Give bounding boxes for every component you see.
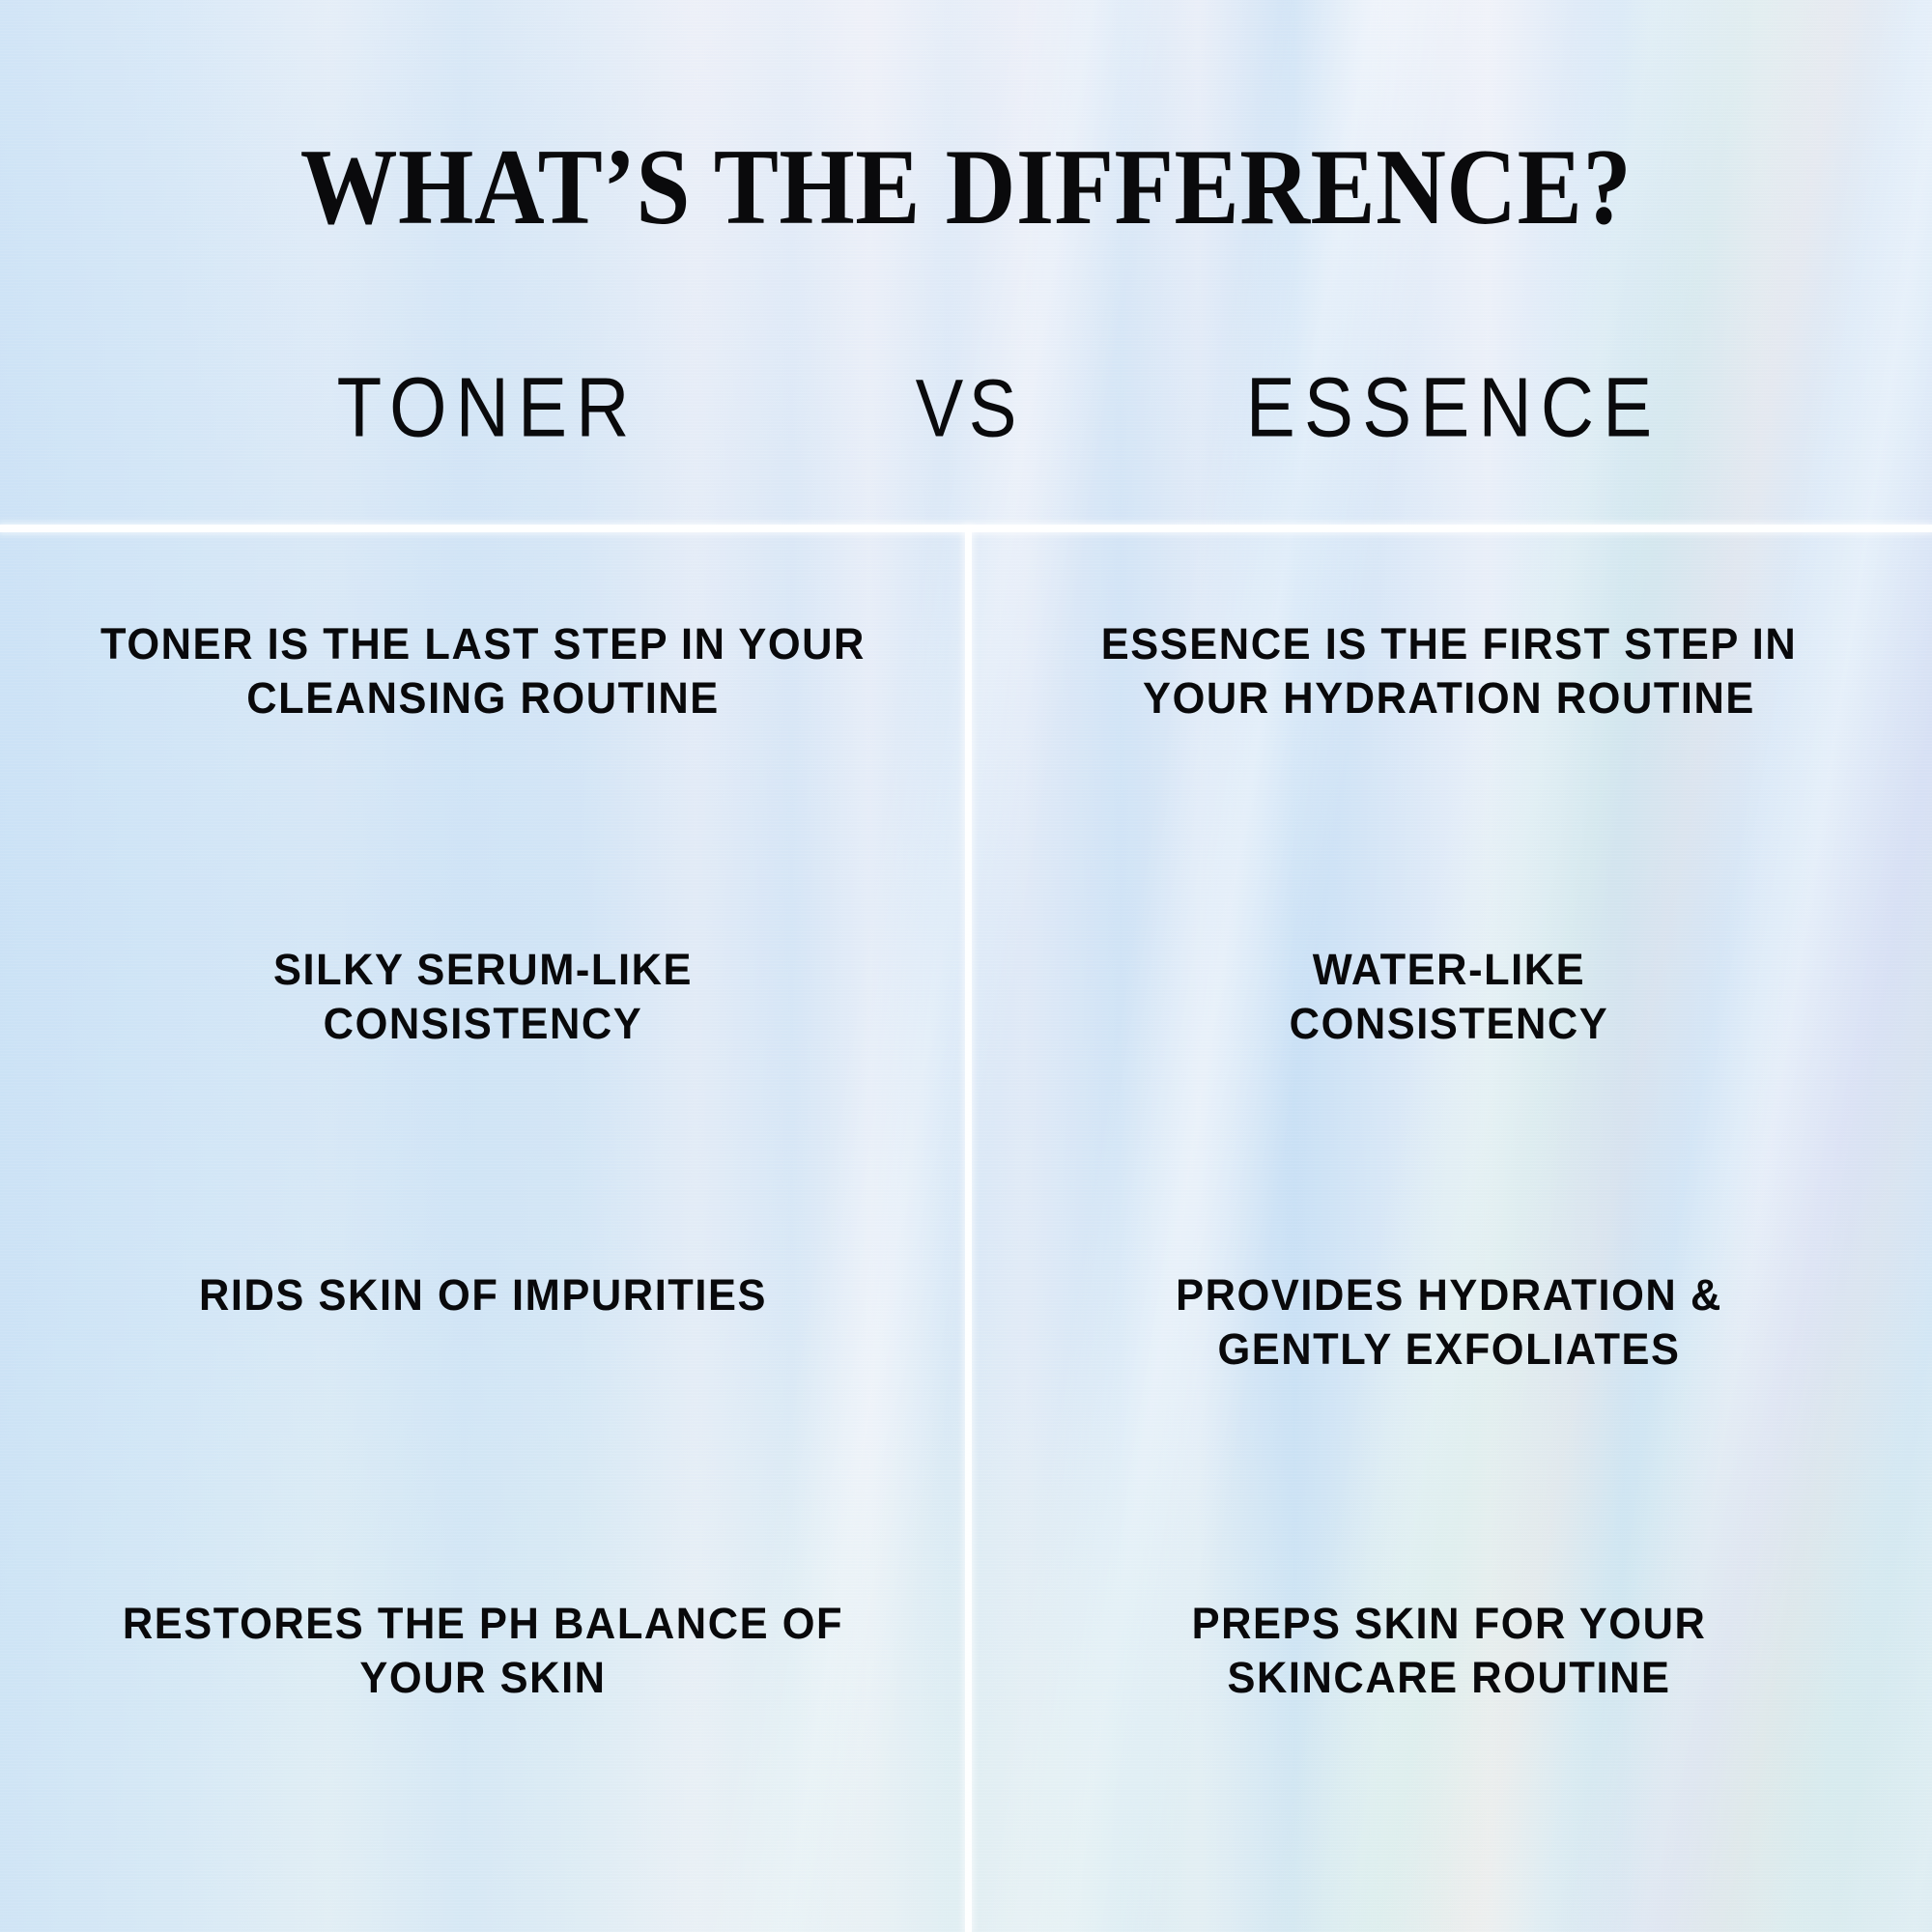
page-title: WHAT’S THE DIFFERENCE?: [97, 133, 1835, 241]
feature-line: PROVIDES HYDRATION &: [1014, 1268, 1883, 1322]
column-toner: TONER IS THE LAST STEP IN YOUR CLEANSING…: [0, 532, 966, 1932]
feature-toner-step: TONER IS THE LAST STEP IN YOUR CLEANSING…: [17, 617, 950, 725]
feature-line: SILKY SERUM-LIKE: [48, 943, 917, 997]
feature-line: PREPS SKIN FOR YOUR: [1014, 1597, 1883, 1651]
feature-line: CONSISTENCY: [1014, 997, 1883, 1051]
header-section: WHAT’S THE DIFFERENCE? TONER VS ESSENCE: [0, 0, 1932, 525]
feature-essence-step: ESSENCE IS THE FIRST STEP IN YOUR HYDRAT…: [983, 617, 1916, 725]
column-heading-essence: ESSENCE: [1000, 367, 1898, 451]
feature-line: WATER-LIKE: [1014, 943, 1883, 997]
feature-line: CLEANSING ROUTINE: [48, 671, 917, 725]
feature-line: ESSENCE IS THE FIRST STEP IN: [1014, 617, 1883, 671]
feature-line: CONSISTENCY: [48, 997, 917, 1051]
feature-line: YOUR SKIN: [48, 1651, 917, 1705]
feature-toner-consistency: SILKY SERUM-LIKE CONSISTENCY: [17, 943, 950, 1051]
feature-line: GENTLY EXFOLIATES: [1014, 1322, 1883, 1377]
feature-line: RIDS SKIN OF IMPURITIES: [48, 1268, 917, 1322]
column-essence: ESSENCE IS THE FIRST STEP IN YOUR HYDRAT…: [966, 532, 1932, 1932]
feature-essence-preps: PREPS SKIN FOR YOUR SKINCARE ROUTINE: [983, 1597, 1916, 1705]
comparison-columns: TONER IS THE LAST STEP IN YOUR CLEANSING…: [0, 532, 1932, 1932]
feature-line: TONER IS THE LAST STEP IN YOUR: [48, 617, 917, 671]
feature-line: RESTORES THE PH BALANCE OF: [48, 1597, 917, 1651]
feature-essence-consistency: WATER-LIKE CONSISTENCY: [983, 943, 1916, 1051]
feature-toner-impurities: RIDS SKIN OF IMPURITIES: [17, 1268, 950, 1322]
feature-line: YOUR HYDRATION ROUTINE: [1014, 671, 1883, 725]
feature-essence-hydration: PROVIDES HYDRATION & GENTLY EXFOLIATES: [983, 1268, 1916, 1377]
feature-line: SKINCARE ROUTINE: [1014, 1651, 1883, 1705]
infographic-canvas: WHAT’S THE DIFFERENCE? TONER VS ESSENCE …: [0, 0, 1932, 1932]
comparison-heading-row: TONER VS ESSENCE: [0, 355, 1932, 462]
column-heading-toner: TONER: [34, 367, 932, 451]
feature-toner-ph: RESTORES THE PH BALANCE OF YOUR SKIN: [17, 1597, 950, 1705]
